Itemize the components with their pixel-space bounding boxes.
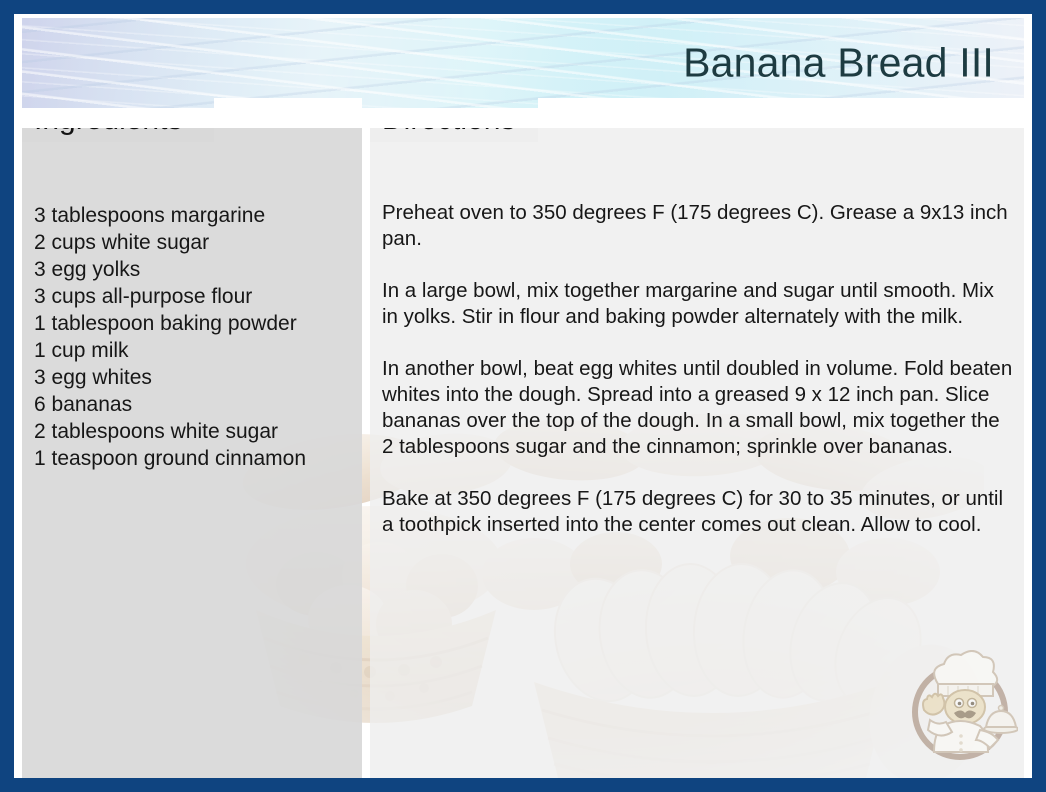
direction-step: Bake at 350 degrees F (175 degrees C) fo… xyxy=(382,486,1014,538)
ingredient-item: 3 egg whites xyxy=(34,364,306,391)
direction-step: In another bowl, beat egg whites until d… xyxy=(382,356,1014,460)
ingredient-item: 6 bananas xyxy=(34,391,306,418)
ingredient-item: 3 cups all-purpose flour xyxy=(34,283,306,310)
directions-heading-tab: Directions xyxy=(370,128,538,142)
ingredient-item: 3 tablespoons margarine xyxy=(34,202,306,229)
ingredients-panel: Ingredients 3 tablespoons margarine 2 cu… xyxy=(22,128,362,778)
ingredient-item: 1 teaspoon ground cinnamon xyxy=(34,445,306,472)
direction-step: In a large bowl, mix together margarine … xyxy=(382,278,1014,330)
ingredient-item: 2 tablespoons white sugar xyxy=(34,418,306,445)
ingredients-list: 3 tablespoons margarine 2 cups white sug… xyxy=(34,202,306,472)
directions-heading: Directions xyxy=(382,128,515,135)
ingredient-item: 1 cup milk xyxy=(34,337,306,364)
ingredient-item: 1 tablespoon baking powder xyxy=(34,310,306,337)
recipe-card: Banana Bread III Ingredients 3 tablespoo… xyxy=(0,0,1046,792)
recipe-title: Banana Bread III xyxy=(683,43,994,84)
header-banner: Banana Bread III xyxy=(22,18,1024,108)
ingredients-heading: Ingredients xyxy=(34,128,182,135)
direction-step: Preheat oven to 350 degrees F (175 degre… xyxy=(382,200,1014,252)
ingredient-item: 3 egg yolks xyxy=(34,256,306,283)
recipe-card-inner: Banana Bread III Ingredients 3 tablespoo… xyxy=(14,14,1032,778)
directions-panel: Directions Preheat oven to 350 degrees F… xyxy=(370,128,1024,778)
ingredient-item: 2 cups white sugar xyxy=(34,229,306,256)
ingredients-heading-tab: Ingredients xyxy=(22,128,214,142)
directions-steps: Preheat oven to 350 degrees F (175 degre… xyxy=(382,200,1014,538)
